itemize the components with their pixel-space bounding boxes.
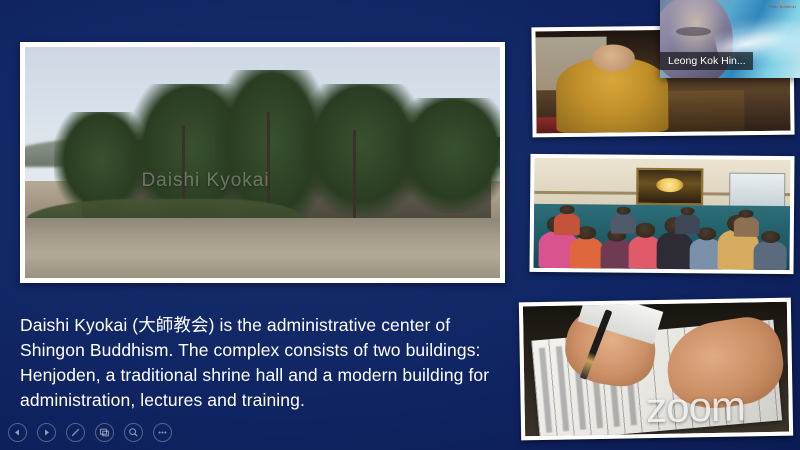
more-options-button[interactable] [153,423,172,442]
seated-person [733,217,759,237]
ellipsis-icon [157,427,168,438]
thumbnail-lecture-hall-frame [529,154,794,274]
thumbnail-calligraphy-frame: zoom [519,298,793,441]
hall-shrine [636,168,703,206]
seated-person [656,232,692,270]
seated-person [675,214,701,234]
seated-person [754,241,788,270]
previous-slide-button[interactable] [8,423,27,442]
seated-person [611,214,637,234]
seated-person [569,237,603,268]
participant-video-panel[interactable]: 卍 Thien Buddhist Leong Kok Hin... [660,0,800,78]
hero-watermark: Daishi Kyokai [141,170,269,192]
triangle-left-icon [13,428,22,437]
participant-name-label: Leong Kok Hin... [660,52,753,70]
magnifier-icon [128,427,139,438]
projector-screen [729,173,786,209]
triangle-right-icon [42,428,51,437]
hero-image: Daishi Kyokai [25,47,500,278]
hero-image-frame: Daishi Kyokai [20,42,505,283]
screen-share-stage: Daishi Kyokai [0,0,800,450]
organization-logo: 卍 Thien Buddhist [768,2,796,10]
tree-5 [396,98,501,214]
zoom-tool-button[interactable] [124,423,143,442]
offering-table [658,90,745,132]
next-slide-button[interactable] [37,423,56,442]
pen-icon [70,427,81,438]
thumbnail-calligraphy-image: zoom [523,302,789,437]
seated-person [554,213,580,235]
hero-ground [25,218,500,278]
thumbnail-lecture-hall-image [534,158,791,270]
zoom-watermark: zoom [646,385,745,429]
logo-text: Thien Buddhist [768,6,796,10]
slide-view-button[interactable] [95,423,114,442]
pen-tool-button[interactable] [66,423,85,442]
slides-icon [99,427,110,438]
monk-head [591,45,634,72]
tree-trunk-3 [353,130,356,222]
slide-caption: Daishi Kyokai (大師教会) is the administrati… [20,313,520,413]
slide-toolbar [8,423,172,442]
